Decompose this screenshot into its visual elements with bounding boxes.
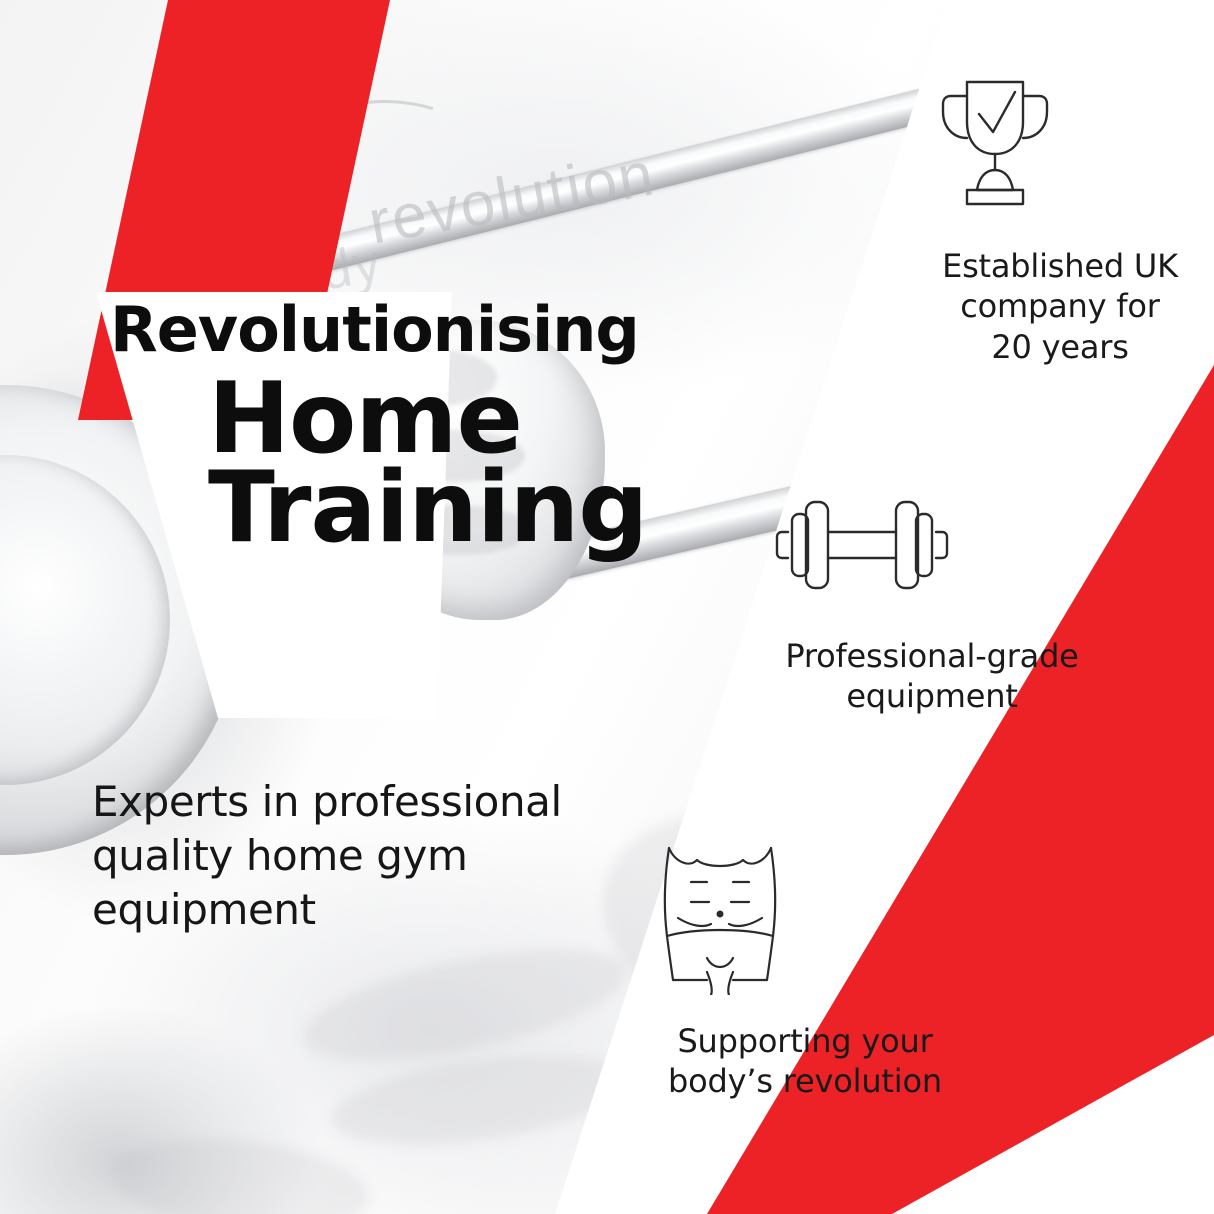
headline-line-3: Training (208, 461, 830, 556)
headline-line-1: Revolutionising (110, 300, 830, 360)
feature-item-body: Supporting your body’s revolution (645, 840, 965, 1102)
headline-block: Revolutionising Home Training (110, 300, 830, 556)
fabric-fold (106, 1127, 374, 1214)
feature-caption-line-1: Supporting your (645, 1021, 965, 1061)
feature-item-equipment: Professional-grade equipment (772, 480, 1092, 717)
torso-abs-icon (645, 840, 965, 995)
subheadline-text: Experts in professional quality home gym… (92, 775, 672, 936)
dumbbell-icon (772, 480, 1092, 610)
feature-caption-line-1: Professional-grade (772, 636, 1092, 676)
promo-banner: body revolution Revolutionising Home Tra… (0, 0, 1214, 1214)
feature-caption-line-2: body’s revolution (645, 1061, 965, 1101)
feature-caption-line-2: company for (915, 286, 1205, 326)
feature-caption-line-2: equipment (772, 676, 1092, 716)
trophy-check-icon (915, 70, 1205, 220)
feature-caption-line-3: 20 years (915, 327, 1205, 367)
feature-item-established: Established UK company for 20 years (915, 70, 1205, 367)
feature-caption-line-1: Established UK (915, 246, 1205, 286)
